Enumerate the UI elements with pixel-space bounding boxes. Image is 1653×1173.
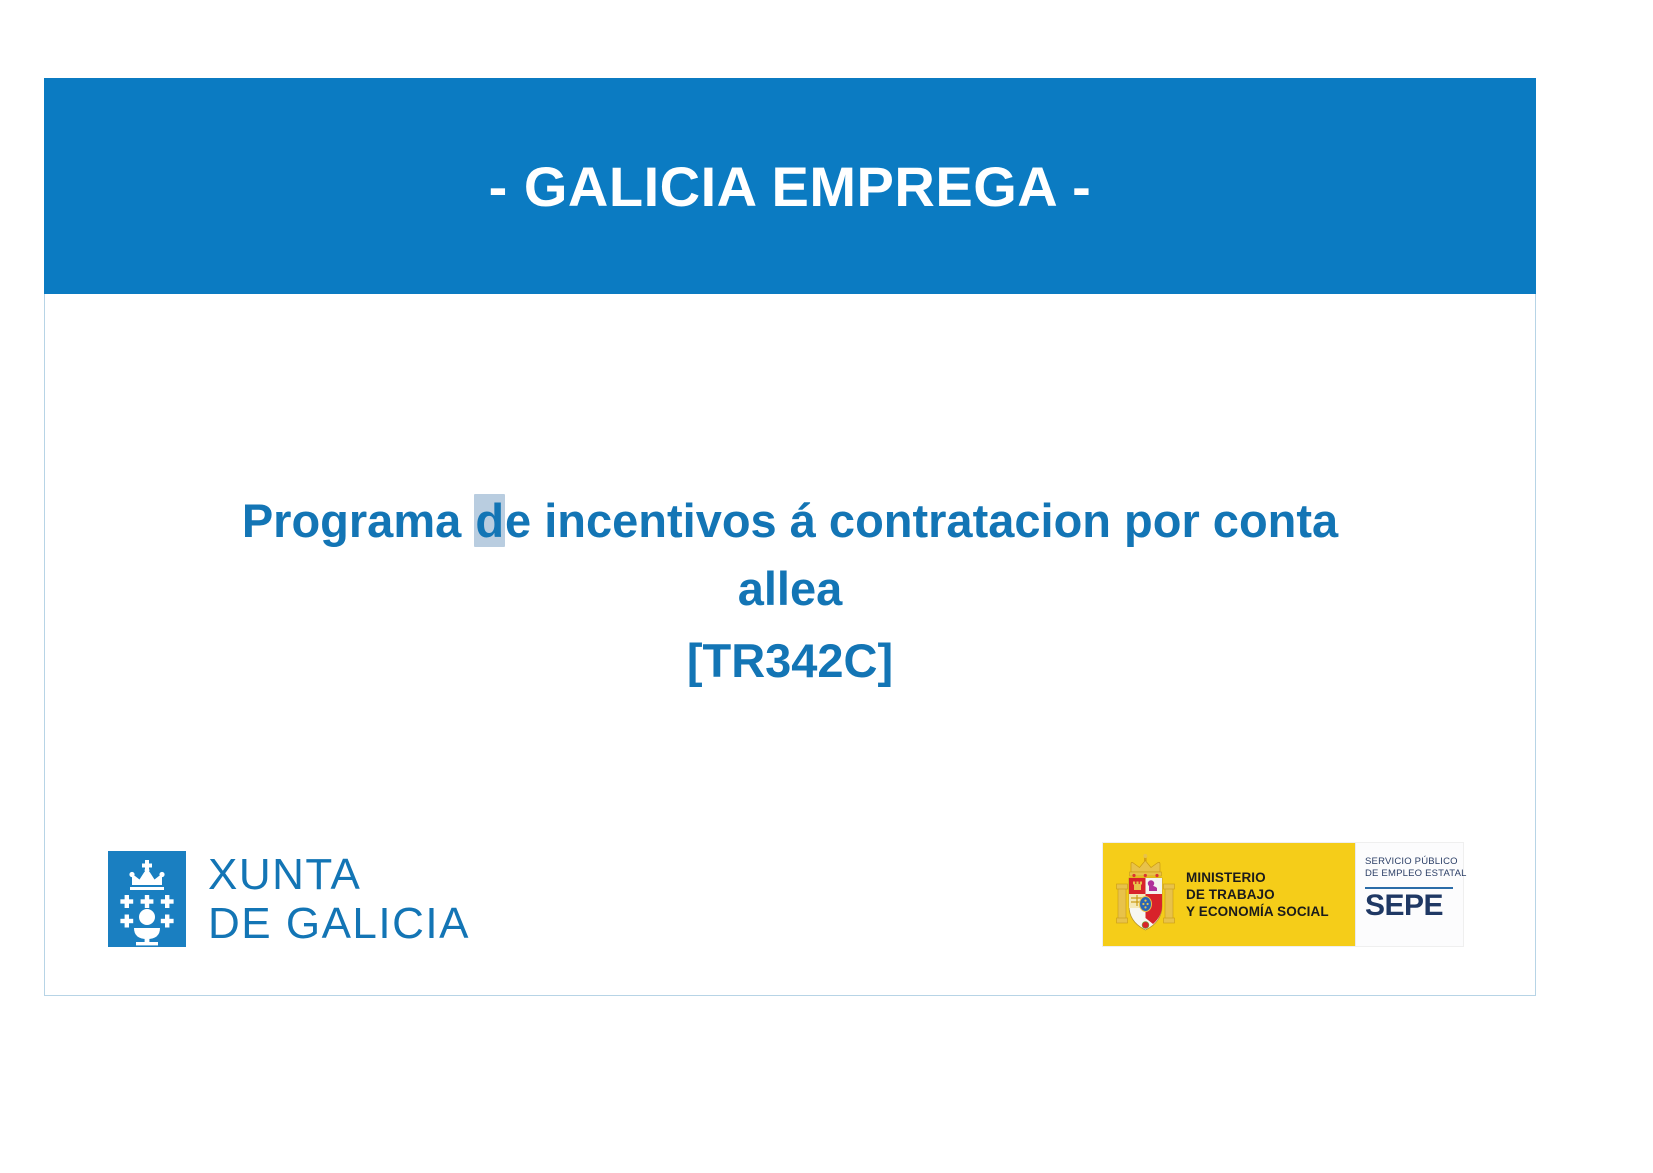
chalice-icon (134, 909, 160, 945)
ministerio-line-2: DE TRABAJO (1186, 886, 1329, 903)
text-selection-highlight[interactable]: d (474, 494, 505, 547)
slide-header-band: - GALICIA EMPREGA - (44, 78, 1536, 294)
xunta-wordmark-line-2: DE GALICIA (208, 899, 470, 948)
sepe-subtitle: SERVICIO PÚBLICO DE EMPLEO ESTATAL (1365, 856, 1463, 881)
subtitle-text-after-selection: e incentivos á contratacion por conta (505, 494, 1338, 547)
presentation-slide-page: { "slide": { "header": { "title": "- GAL… (0, 0, 1653, 1173)
sepe-acronym: SEPE (1365, 891, 1463, 921)
cross-icon (120, 895, 173, 908)
xunta-wordmark-line-1: XUNTA (208, 850, 470, 899)
subtitle-line-1: Programa de incentivos á contratacion po… (140, 487, 1440, 555)
subtitle-text-before-selection: Programa (242, 494, 474, 547)
slide-body: Programa de incentivos á contratacion po… (45, 295, 1535, 997)
page-title: - GALICIA EMPREGA - (489, 154, 1092, 219)
slide-subtitle: Programa de incentivos á contratacion po… (140, 487, 1440, 695)
slide-canvas: - GALICIA EMPREGA - Programa de incentiv… (44, 78, 1536, 996)
xunta-wordmark: XUNTA DE GALICIA (208, 850, 470, 949)
spanish-coat-of-arms-icon (1115, 854, 1177, 936)
sepe-subtitle-line-1: SERVICIO PÚBLICO (1365, 856, 1463, 868)
procedure-code: [TR342C] (140, 627, 1440, 695)
subtitle-line-2: allea (140, 555, 1440, 623)
crown-icon (129, 868, 164, 890)
xunta-de-galicia-logo: XUNTA DE GALICIA (108, 850, 470, 949)
ministerio-text: MINISTERIO DE TRABAJO Y ECONOMÍA SOCIAL (1186, 869, 1329, 921)
ministerio-line-1: MINISTERIO (1186, 869, 1329, 886)
xunta-emblem (108, 851, 186, 947)
ministerio-line-3: Y ECONOMÍA SOCIAL (1186, 903, 1329, 920)
sepe-panel: SERVICIO PÚBLICO DE EMPLEO ESTATAL SEPE (1355, 843, 1463, 946)
sepe-subtitle-line-2: DE EMPLEO ESTATAL (1365, 868, 1463, 880)
ministerio-sepe-logo: MINISTERIO DE TRABAJO Y ECONOMÍA SOCIAL … (1103, 843, 1463, 946)
ministerio-panel: MINISTERIO DE TRABAJO Y ECONOMÍA SOCIAL (1103, 843, 1355, 946)
galicia-chalice-emblem-icon (108, 851, 186, 947)
